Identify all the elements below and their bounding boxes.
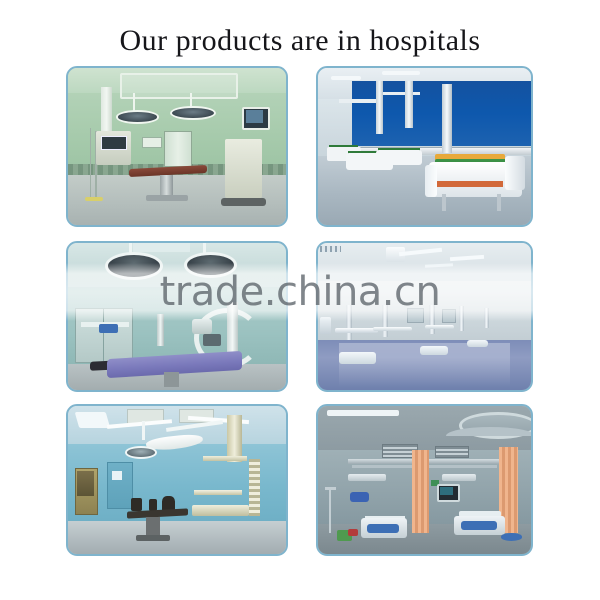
gallery-item-hybrid-or-c-arm[interactable] — [66, 241, 288, 392]
photo-icu-curtains — [318, 406, 531, 554]
photo-operating-room-green — [68, 68, 286, 225]
photo-operating-room-blue — [68, 406, 286, 554]
gallery-item-pendant-room-blue-floor[interactable] — [316, 241, 533, 392]
gallery-item-icu-ward-blue[interactable] — [316, 66, 533, 227]
gallery-item-operating-room-blue[interactable] — [66, 404, 288, 556]
photo-hybrid-or-c-arm — [68, 243, 286, 390]
gallery-item-operating-room-green[interactable] — [66, 66, 288, 227]
photo-pendant-room-blue-floor — [318, 243, 531, 390]
gallery-item-icu-curtains[interactable] — [316, 404, 533, 556]
photo-icu-ward-blue — [318, 68, 531, 225]
page-canvas: Our products are in hospitals — [0, 0, 600, 600]
image-gallery — [0, 0, 600, 600]
